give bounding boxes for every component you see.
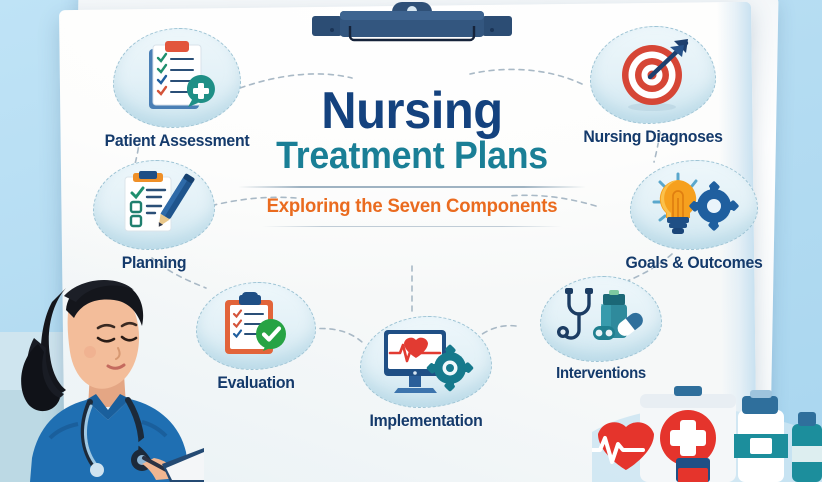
lightbulb-gear-icon — [630, 160, 758, 250]
checklist-pencil-icon — [93, 160, 215, 250]
first-aid-kit-heart-medicine-illustration — [592, 372, 822, 482]
clipboard-checklist-medical-icon — [113, 28, 241, 128]
target-arrow-icon — [590, 26, 716, 124]
component-node-goals-outcomes[interactable]: Goals & Outcomes — [596, 160, 792, 273]
component-node-interventions[interactable]: Interventions — [508, 276, 694, 383]
component-node-nursing-diagnoses[interactable]: Nursing Diagnoses — [560, 26, 746, 147]
title-divider-bottom — [262, 226, 562, 227]
title-line-1: Nursing — [243, 86, 581, 136]
title-divider-top — [238, 186, 586, 188]
component-label: Goals & Outcomes — [603, 253, 785, 273]
infographic-canvas: Nursing Treatment Plans Exploring the Se… — [0, 0, 822, 482]
clipboard-green-check-icon — [196, 282, 316, 370]
subtitle: Exploring the Seven Components — [241, 195, 583, 218]
monitor-heartbeat-gear-icon — [360, 316, 492, 408]
component-node-implementation[interactable]: Implementation — [330, 316, 522, 431]
stethoscope-pills-icon — [540, 276, 662, 362]
title-block: Nursing Treatment Plans Exploring the Se… — [232, 86, 592, 227]
title-line-2: Treatment Plans — [243, 134, 581, 178]
nurse-writing-clipboard-illustration — [0, 252, 204, 482]
component-label: Nursing Diagnoses — [567, 127, 740, 147]
component-node-patient-assessment[interactable]: Patient Assessment — [88, 28, 266, 151]
component-label: Patient Assessment — [94, 131, 260, 151]
component-label: Implementation — [337, 411, 516, 431]
clipboard-clip-icon — [306, 0, 518, 44]
